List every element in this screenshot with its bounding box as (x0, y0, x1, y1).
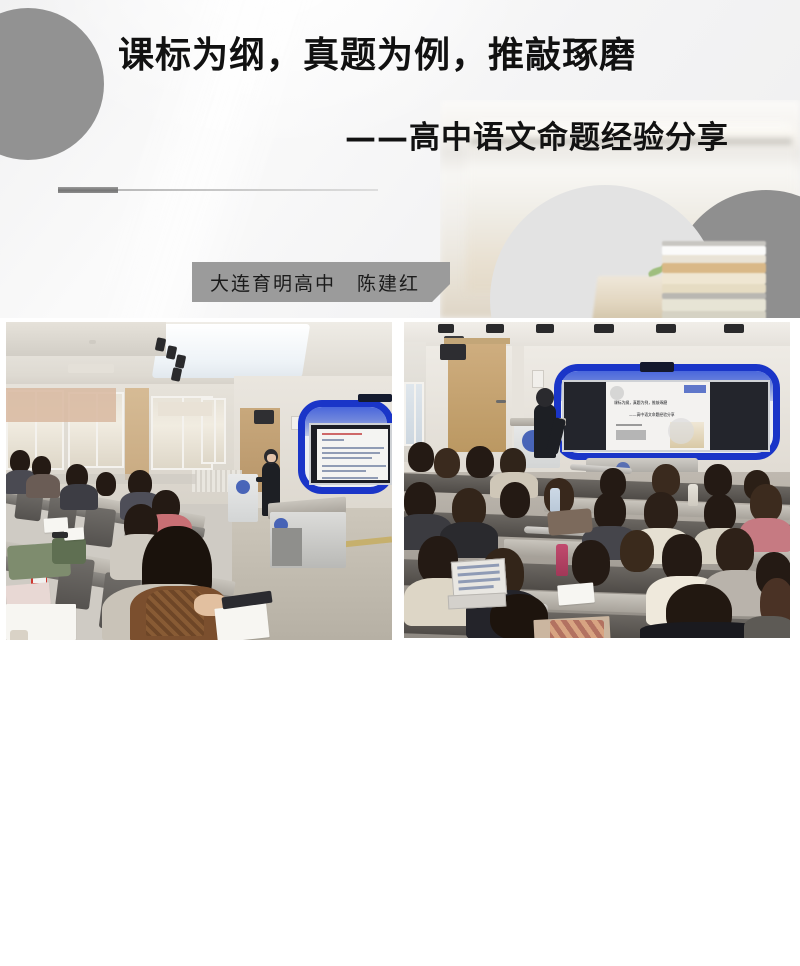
screen-slide-title: 课标为纲，真题为例，推敲琢磨 (614, 400, 667, 406)
slide-subtitle: ——高中语文命题经验分享 (345, 112, 729, 157)
photo-classroom-side-view (6, 322, 392, 640)
photo-lecture-hall-rear-view: 课标为纲，真题为例，推敲琢磨 ——高中语文命题经验分享 (404, 322, 790, 638)
photo-gap (392, 644, 404, 966)
divider-thick-segment (58, 187, 118, 193)
divider-rule (58, 186, 378, 194)
photo-strip: 课标为纲，真题为例，推敲琢磨 ——高中语文命题经验分享 (0, 322, 800, 644)
book-stack (662, 241, 766, 318)
slide-page: 课标为纲，真题为例，推敲琢磨 ——高中语文命题经验分享 大连育明高中 陈建红 (0, 0, 800, 650)
title-slide: 课标为纲，真题为例，推敲琢磨 ——高中语文命题经验分享 大连育明高中 陈建红 (0, 0, 800, 318)
presenter-banner: 大连育明高中 陈建红 (192, 262, 450, 302)
slide-title: 课标为纲，真题为例，推敲琢磨 (118, 26, 636, 78)
presenter-name: 大连育明高中 陈建红 (210, 269, 420, 296)
screen-slide-subtitle: ——高中语文命题经验分享 (629, 412, 675, 418)
divider-thin-segment (118, 189, 378, 191)
screen-slide: 课标为纲，真题为例，推敲琢磨 ——高中语文命题经验分享 (606, 382, 710, 450)
